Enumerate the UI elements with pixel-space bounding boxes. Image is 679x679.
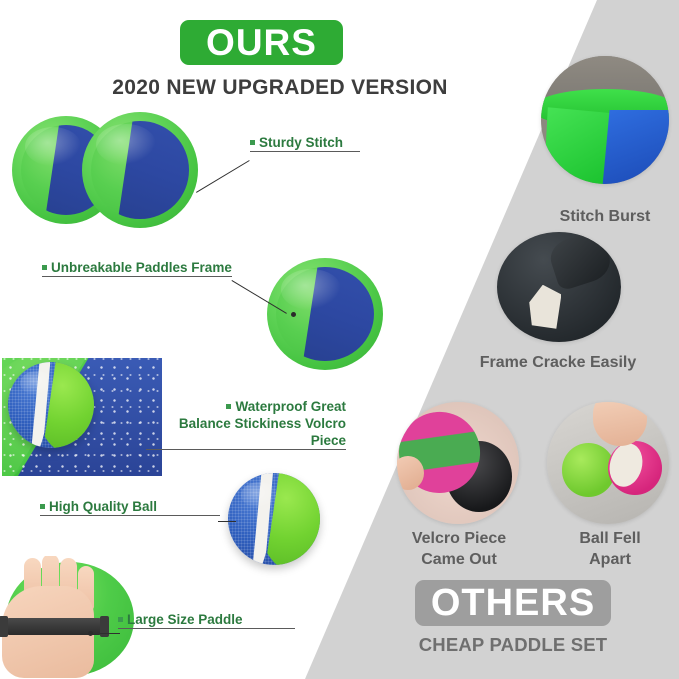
callout-underline	[40, 515, 220, 516]
photo-stitch-burst	[541, 56, 669, 184]
leader-line-ball	[218, 521, 236, 522]
blue-fabric	[602, 110, 669, 184]
label-ball-fell-apart: Ball Fell Apart	[540, 528, 679, 570]
bullet-icon	[118, 617, 123, 622]
photo-frame-crack	[497, 232, 621, 342]
callout-underline	[250, 151, 360, 152]
callout-text: High Quality Ball	[40, 498, 220, 515]
label-line-1: Ball Fell	[540, 528, 679, 549]
label-line-2: Apart	[540, 549, 679, 570]
label-line-2: Came Out	[380, 549, 538, 570]
paddle-single-frame	[267, 258, 383, 370]
photo-velcro-came-out	[397, 402, 519, 524]
others-badge: OTHERS	[415, 580, 611, 626]
label-line-1: Velcro Piece	[380, 528, 538, 549]
label-velcro-came-out: Velcro Piece Came Out	[380, 528, 538, 570]
leader-dot-paddle	[88, 631, 93, 636]
callout-text: Sturdy Stitch	[250, 134, 360, 151]
callout-underline	[42, 276, 232, 277]
leader-dot-frame	[291, 312, 296, 317]
callout-text: Unbreakable Paddles Frame	[42, 259, 232, 276]
paddle-highlight	[281, 269, 341, 309]
callout-large-size-paddle: Large Size Paddle	[118, 611, 295, 629]
ours-subtitle: 2020 NEW UPGRADED VERSION	[100, 76, 460, 100]
callout-waterproof-velcro: Waterproof GreatBalance Stickiness Volcr…	[146, 398, 346, 450]
callout-underline	[146, 449, 346, 450]
callout-underline	[118, 628, 295, 629]
paddle-pair-right	[82, 112, 198, 228]
callout-sturdy-stitch: Sturdy Stitch	[250, 134, 360, 152]
bullet-icon	[42, 265, 47, 270]
infographic-canvas: OURS 2020 NEW UPGRADED VERSION OTHERS CH…	[0, 0, 679, 679]
paddle-highlight	[25, 127, 81, 166]
ball-highlight	[241, 482, 278, 508]
leader-line-sturdy-stitch	[196, 160, 250, 193]
leader-line-paddle	[92, 633, 120, 634]
label-stitch-burst: Stitch Burst	[522, 206, 679, 227]
callout-high-quality-ball: High Quality Ball	[40, 498, 220, 516]
label-frame-cracke-easily: Frame Cracke Easily	[440, 352, 676, 373]
paddle-highlight	[96, 124, 156, 166]
bullet-icon	[226, 404, 231, 409]
ball-highlight	[20, 371, 54, 395]
bullet-icon	[250, 140, 255, 145]
ball-on-paddle	[8, 362, 94, 448]
callout-text: Waterproof GreatBalance Stickiness Volcr…	[146, 398, 346, 449]
ours-badge: OURS	[180, 20, 343, 65]
callout-text: Large Size Paddle	[118, 611, 295, 628]
ball-standalone	[228, 473, 320, 565]
others-subtitle: CHEAP PADDLE SET	[408, 634, 618, 656]
photo-ball-fell-apart	[547, 402, 669, 524]
callout-unbreakable-frame: Unbreakable Paddles Frame	[42, 259, 232, 277]
bullet-icon	[40, 504, 45, 509]
